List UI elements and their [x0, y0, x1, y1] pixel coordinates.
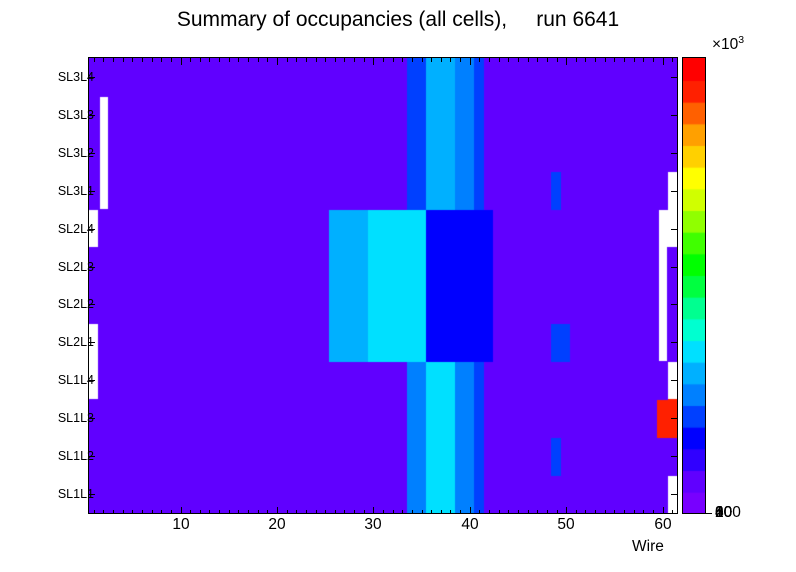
chart-root: Summary of occupancies (all cells), run … [0, 0, 796, 572]
x-axis-tick-top [316, 58, 317, 62]
x-axis-tick [229, 510, 230, 514]
x-axis-tick-top [537, 58, 538, 62]
x-axis-tick-top [287, 58, 288, 62]
x-axis-tick-top [296, 58, 297, 62]
x-axis-tick-top [354, 58, 355, 62]
y-axis-tick [88, 342, 95, 343]
y-axis-tick-right [671, 456, 678, 457]
x-axis-tick [422, 510, 423, 514]
x-axis-tick [103, 510, 104, 514]
x-axis-tick-top [441, 58, 442, 62]
x-axis-tick [152, 510, 153, 514]
x-axis-tick-top [499, 58, 500, 62]
x-axis-tick-top [653, 58, 654, 62]
x-axis-tick [335, 510, 336, 514]
x-axis-tick [605, 510, 606, 514]
y-axis-tick-right [671, 304, 678, 305]
x-axis-tick [672, 510, 673, 514]
y-axis-tick [88, 77, 95, 78]
x-axis-tick-top [267, 58, 268, 62]
x-axis-tick-top [605, 58, 606, 62]
x-axis-tick [200, 510, 201, 514]
x-axis-tick [296, 510, 297, 514]
y-axis-tick [88, 304, 95, 305]
y-axis-tick [88, 494, 95, 495]
x-axis-tick [325, 510, 326, 514]
x-axis-tick [344, 510, 345, 514]
y-axis-tick [88, 267, 95, 268]
x-axis-tick [643, 510, 644, 514]
x-axis-tick [614, 510, 615, 514]
x-axis-tick-top [200, 58, 201, 62]
x-axis-tick-top [566, 58, 567, 65]
x-axis-tick-top [402, 58, 403, 62]
x-axis-tick [450, 510, 451, 514]
x-axis-tick-top [431, 58, 432, 62]
x-axis-tick [595, 510, 596, 514]
y-axis-tick-right [671, 267, 678, 268]
y-axis-tick [88, 229, 95, 230]
x-axis-tick-top [450, 58, 451, 62]
x-axis-tick-top [547, 58, 548, 62]
x-axis-tick [306, 510, 307, 514]
x-axis-tick-top [470, 58, 471, 65]
x-axis-tick-top [672, 58, 673, 62]
x-axis-tick [460, 510, 461, 514]
y-axis-tick [88, 153, 95, 154]
x-axis-tick-label: 20 [268, 516, 285, 534]
x-axis-tick-top [325, 58, 326, 62]
x-axis-tick-top [373, 58, 374, 65]
x-axis-tick-top [123, 58, 124, 62]
x-axis-tick-top [238, 58, 239, 62]
colorbar-exponent-power: 3 [738, 34, 744, 46]
x-axis-tick [373, 507, 374, 514]
x-axis-tick-top [219, 58, 220, 62]
y-axis-tick-right [671, 380, 678, 381]
x-axis-tick-top [132, 58, 133, 62]
x-axis-tick [190, 510, 191, 514]
x-axis-tick [557, 510, 558, 514]
x-axis-title: Wire [632, 538, 664, 556]
y-axis-tick [88, 380, 95, 381]
x-axis-tick [258, 510, 259, 514]
x-axis-tick-top [585, 58, 586, 62]
heatmap-plot-area [88, 57, 678, 514]
x-axis-tick [132, 510, 133, 514]
x-axis-tick-top [161, 58, 162, 62]
x-axis-tick [489, 510, 490, 514]
x-axis-tick [316, 510, 317, 514]
x-axis-tick-label: 40 [461, 516, 478, 534]
x-axis-tick [238, 510, 239, 514]
colorbar [682, 57, 706, 514]
x-axis-tick [142, 510, 143, 514]
x-axis-tick [624, 510, 625, 514]
x-axis-tick [537, 510, 538, 514]
x-axis-tick-top [393, 58, 394, 62]
x-axis-tick [508, 510, 509, 514]
x-axis-tick [354, 510, 355, 514]
x-axis-tick-top [209, 58, 210, 62]
x-axis-tick-top [576, 58, 577, 62]
x-axis-tick-top [344, 58, 345, 62]
x-axis-tick-label: 10 [172, 516, 189, 534]
x-axis-tick-top [614, 58, 615, 62]
x-axis-tick [412, 510, 413, 514]
colorbar-canvas [683, 58, 705, 513]
x-axis-tick-top [181, 58, 182, 65]
x-axis-tick-top [489, 58, 490, 62]
x-axis-tick [499, 510, 500, 514]
x-axis-tick-top [422, 58, 423, 62]
x-axis-tick [383, 510, 384, 514]
x-axis-tick [94, 510, 95, 514]
x-axis-tick-top [663, 58, 664, 65]
x-axis-tick [402, 510, 403, 514]
x-axis-tick [441, 510, 442, 514]
x-axis-tick [566, 507, 567, 514]
y-axis-tick-right [671, 342, 678, 343]
colorbar-exponent-base: ×10 [712, 36, 738, 53]
x-axis-tick [479, 510, 480, 514]
y-axis-tick [88, 418, 95, 419]
colorbar-exponent-label: ×103 [712, 34, 744, 54]
x-axis-tick-top [508, 58, 509, 62]
x-axis-tick-top [634, 58, 635, 62]
x-axis-tick [161, 510, 162, 514]
x-axis-tick [634, 510, 635, 514]
x-axis-tick-top [94, 58, 95, 62]
x-axis-tick [277, 507, 278, 514]
x-axis-tick-top [103, 58, 104, 62]
x-axis-tick [267, 510, 268, 514]
x-axis-tick-top [557, 58, 558, 62]
x-axis-tick-label: 60 [654, 516, 671, 534]
x-axis-tick [113, 510, 114, 514]
x-axis-tick-top [277, 58, 278, 65]
x-axis-tick-top [171, 58, 172, 62]
x-axis-tick [576, 510, 577, 514]
x-axis-tick [219, 510, 220, 514]
x-axis-tick [248, 510, 249, 514]
colorbar-tick-label: 100 [715, 504, 741, 522]
x-axis-tick-top [335, 58, 336, 62]
x-axis-tick-top [624, 58, 625, 62]
y-axis-tick-right [671, 191, 678, 192]
x-axis-tick-top [258, 58, 259, 62]
y-axis-tick-right [671, 77, 678, 78]
x-axis-tick-top [643, 58, 644, 62]
x-axis-tick-top [113, 58, 114, 62]
chart-title: Summary of occupancies (all cells), run … [0, 8, 796, 32]
y-axis-tick [88, 115, 95, 116]
x-axis-tick [431, 510, 432, 514]
x-axis-tick-top [479, 58, 480, 62]
heatmap-canvas [89, 58, 677, 513]
x-axis-tick-top [383, 58, 384, 62]
x-axis-tick [518, 510, 519, 514]
y-axis-tick-right [671, 494, 678, 495]
x-axis-tick [181, 507, 182, 514]
x-axis-tick-top [595, 58, 596, 62]
y-axis-tick-right [671, 418, 678, 419]
x-axis-tick [364, 510, 365, 514]
x-axis-tick-label: 30 [364, 516, 381, 534]
x-axis-tick [663, 507, 664, 514]
y-axis-tick-right [671, 153, 678, 154]
x-axis-tick [585, 510, 586, 514]
x-axis-tick [123, 510, 124, 514]
x-axis-tick [653, 510, 654, 514]
y-axis-tick [88, 191, 95, 192]
x-axis-tick-top [528, 58, 529, 62]
x-axis-tick [171, 510, 172, 514]
x-axis-tick [393, 510, 394, 514]
x-axis-tick-top [248, 58, 249, 62]
x-axis-tick-top [190, 58, 191, 62]
x-axis-tick-label: 50 [557, 516, 574, 534]
x-axis-tick [470, 507, 471, 514]
x-axis-tick-top [518, 58, 519, 62]
y-axis-tick [88, 456, 95, 457]
x-axis-tick [287, 510, 288, 514]
y-axis-tick-right [671, 115, 678, 116]
x-axis-tick-top [229, 58, 230, 62]
x-axis-tick-top [460, 58, 461, 62]
x-axis-tick-top [412, 58, 413, 62]
x-axis-tick [528, 510, 529, 514]
x-axis-tick [209, 510, 210, 514]
x-axis-tick [547, 510, 548, 514]
x-axis-tick-top [142, 58, 143, 62]
x-axis-tick-top [152, 58, 153, 62]
x-axis-tick-top [306, 58, 307, 62]
colorbar-tick [706, 513, 712, 514]
x-axis-tick-top [364, 58, 365, 62]
y-axis-tick-right [671, 229, 678, 230]
